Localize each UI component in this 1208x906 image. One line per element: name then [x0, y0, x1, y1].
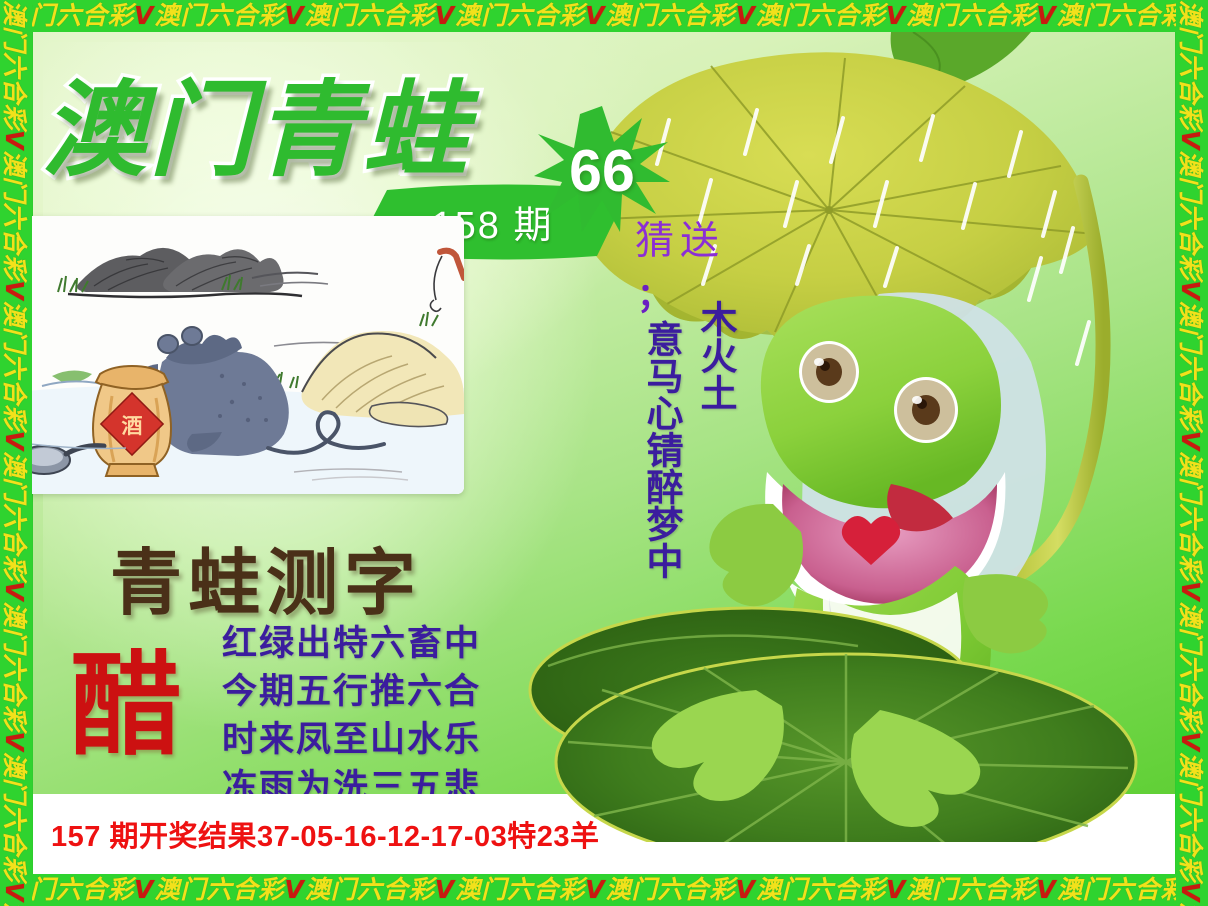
result-text: 157 期开奖结果37-05-16-12-17-03特23羊: [51, 813, 600, 855]
border-repeat-text-left: 澳门六合彩V澳门六合彩V澳门六合彩V澳门六合彩V澳门六合彩V澳门六合彩V澳门六合…: [0, 0, 30, 906]
poem-line: 时来凤至山水乐: [222, 716, 481, 764]
border-strip-right: 澳门六合彩V澳门六合彩V澳门六合彩V澳门六合彩V澳门六合彩V澳门六合彩V澳门六合…: [1176, 0, 1208, 906]
hint-column-left: 意马心锖醉梦中: [638, 320, 684, 579]
border-strip-top: 澳门六合彩V澳门六合彩V澳门六合彩V澳门六合彩V澳门六合彩V澳门六合彩V澳门六合…: [0, 0, 1208, 32]
hint-separator: ；: [637, 268, 671, 317]
jar-label: 酒: [122, 414, 143, 438]
result-bar: 157 期开奖结果37-05-16-12-17-03特23羊: [33, 794, 1175, 874]
riddle-character: 醋: [70, 650, 182, 762]
riddle-illustration: 酒: [16, 216, 464, 494]
page-title: 澳门青蛙: [42, 78, 470, 182]
border-repeat-text-right: 澳门六合彩V澳门六合彩V澳门六合彩V澳门六合彩V澳门六合彩V澳门六合彩V澳门六合…: [1176, 0, 1206, 906]
border-repeat-text-top: 澳门六合彩V澳门六合彩V澳门六合彩V澳门六合彩V澳门六合彩V澳门六合彩V澳门六合…: [0, 0, 1208, 32]
section-title: 青蛙测字: [110, 524, 422, 629]
poem-block: 红绿出特六畜中 今期五行推六合 时来凤至山水乐 冻雨为洗三五悲: [222, 620, 481, 812]
hint-heading: 猜送: [635, 210, 725, 266]
border-strip-left: 澳门六合彩V澳门六合彩V澳门六合彩V澳门六合彩V澳门六合彩V澳门六合彩V澳门六合…: [0, 0, 32, 906]
lottery-poster: 澳门六合彩V澳门六合彩V澳门六合彩V澳门六合彩V澳门六合彩V澳门六合彩V澳门六合…: [0, 0, 1208, 906]
hint-column-right: 木火土: [692, 300, 738, 411]
poem-line: 红绿出特六畜中: [222, 620, 481, 668]
border-repeat-text-bottom: 澳门六合彩V澳门六合彩V澳门六合彩V澳门六合彩V澳门六合彩V澳门六合彩V澳门六合…: [0, 874, 1208, 906]
border-strip-bottom: 澳门六合彩V澳门六合彩V澳门六合彩V澳门六合彩V澳门六合彩V澳门六合彩V澳门六合…: [0, 874, 1208, 906]
poem-line: 今期五行推六合: [222, 668, 481, 716]
